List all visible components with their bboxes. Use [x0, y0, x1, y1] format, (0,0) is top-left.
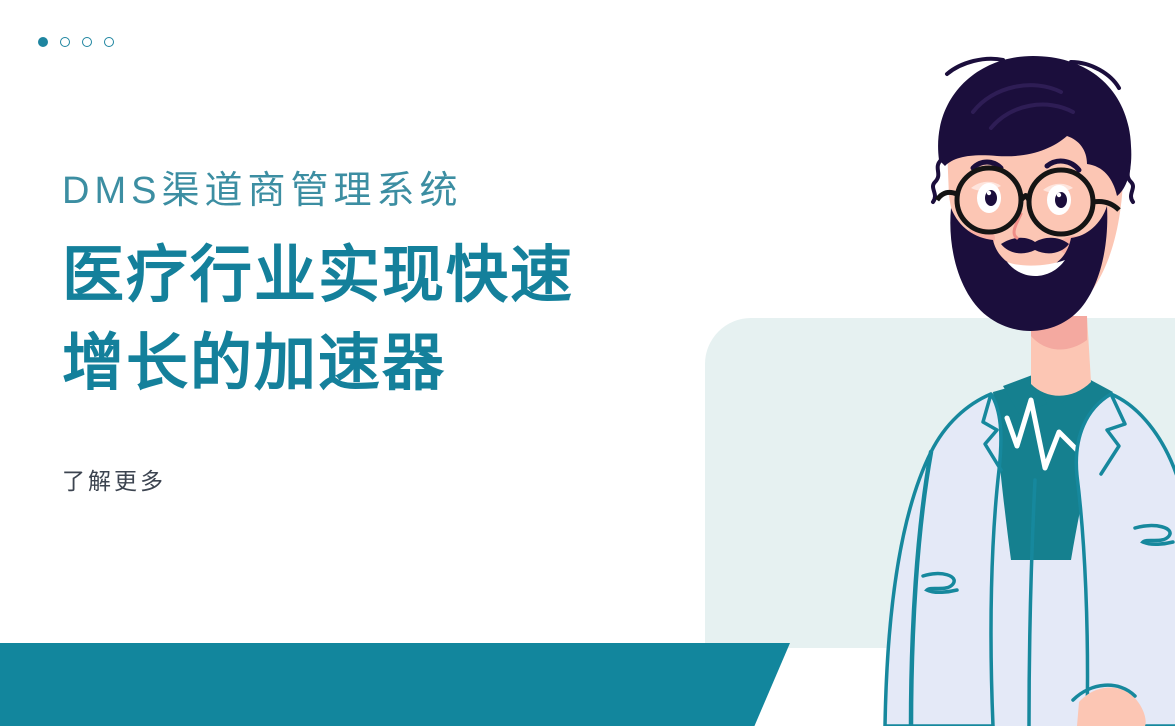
glasses-bridge	[1021, 196, 1029, 201]
nose	[1014, 214, 1021, 238]
headline-line-1: 医疗行业实现快速	[62, 232, 762, 320]
hair-strand-left	[947, 59, 1003, 74]
carousel-pagination	[38, 37, 114, 47]
glasses-lens-left	[957, 168, 1021, 232]
moustache	[1001, 238, 1069, 254]
ear	[1077, 199, 1103, 239]
eye-white-left	[977, 183, 1001, 213]
cuff-line	[1073, 685, 1135, 700]
sideburn-right	[1125, 160, 1133, 202]
teal-bottom-bar	[0, 643, 790, 726]
slide-dot-4[interactable]	[104, 37, 114, 47]
pupil-left	[985, 190, 997, 206]
hair-line-1	[973, 85, 1061, 112]
hair-line-2	[991, 105, 1073, 128]
slide-copy-block: DMS渠道商管理系统 医疗行业实现快速 增长的加速器 了解更多	[62, 168, 762, 496]
eyebrow-right	[1047, 161, 1079, 170]
slide-eyebrow: DMS渠道商管理系统	[62, 168, 762, 216]
glasses-temple-left	[937, 192, 957, 200]
glasses-temple-right	[1093, 201, 1119, 210]
slide-dot-1[interactable]	[38, 37, 48, 47]
sideburn-left	[933, 160, 941, 202]
hair-strand-right	[1071, 62, 1119, 88]
smile	[1007, 260, 1065, 276]
ear-detail	[1087, 212, 1095, 222]
beard	[950, 206, 1107, 331]
glasses-glare-right	[1043, 184, 1073, 193]
hero-banner-slide: DMS渠道商管理系统 医疗行业实现快速 增长的加速器 了解更多	[0, 0, 1175, 726]
glasses-glare-left	[971, 182, 1001, 191]
face	[947, 66, 1123, 322]
glasses-icon	[937, 168, 1119, 234]
eye-white-right	[1047, 185, 1071, 215]
hair	[938, 56, 1131, 196]
slide-headline: 医疗行业实现快速 增长的加速器	[62, 232, 762, 408]
eye-highlight-left	[987, 191, 991, 195]
cheek-blush-left	[963, 228, 995, 248]
pupil-right	[1055, 192, 1067, 208]
learn-more-button[interactable]: 了解更多	[62, 462, 166, 496]
slide-dot-2[interactable]	[60, 37, 70, 47]
hand	[1077, 687, 1146, 726]
mint-background-panel	[705, 318, 1175, 648]
eye-highlight-right	[1057, 193, 1061, 197]
cheek-blush-right	[1059, 236, 1091, 256]
glasses-lens-right	[1029, 170, 1093, 234]
headline-line-2: 增长的加速器	[62, 320, 762, 408]
eyebrow-left	[973, 162, 1001, 168]
slide-dot-3[interactable]	[82, 37, 92, 47]
